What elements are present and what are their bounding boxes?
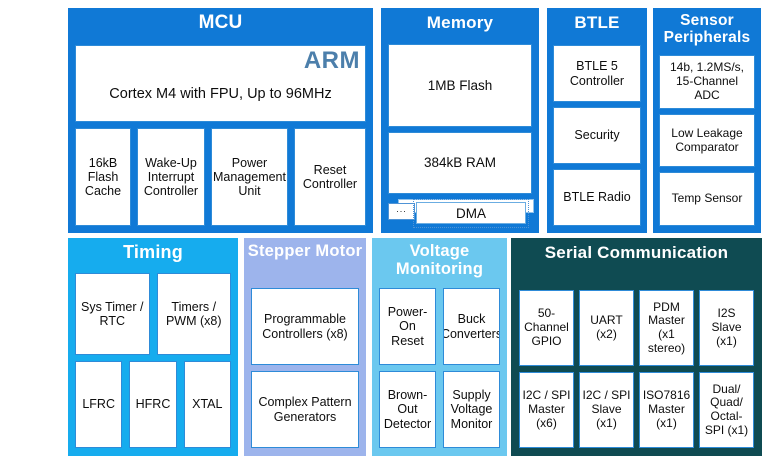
cell-label: 1MB Flash bbox=[426, 78, 495, 93]
group-btle[interactable]: BTLE BTLE 5 Controller Security BTLE Rad… bbox=[547, 8, 647, 233]
mcu-core-label: Cortex M4 with FPU, Up to 96MHz bbox=[109, 86, 331, 121]
cell-label: 14b, 1.2MS/s, 15-Channel ADC bbox=[660, 61, 754, 102]
cell-label: Temp Sensor bbox=[670, 192, 745, 206]
cell-label: Timers / PWM (x8) bbox=[158, 300, 231, 329]
cell-label: I2C / SPI Slave (x1) bbox=[580, 389, 633, 430]
cell-label: 16kB Flash Cache bbox=[76, 156, 130, 199]
block-diagram-canvas: MCU ARM Cortex M4 with FPU, Up to 96MHz … bbox=[0, 0, 769, 464]
cell-label: Dual/ Quad/ Octal-SPI (x1) bbox=[700, 383, 753, 438]
cell-label: Complex Pattern Generators bbox=[252, 395, 358, 424]
cell-label: Sys Timer / RTC bbox=[76, 300, 149, 329]
group-stepper-motor-body: Programmable Controllers (x8) Complex Pa… bbox=[244, 287, 366, 456]
cell-label: Low Leakage Comparator bbox=[660, 127, 754, 154]
group-voltage-monitoring[interactable]: Voltage Monitoring Power-On Reset Buck C… bbox=[372, 238, 507, 456]
cell-label: 50-Channel GPIO bbox=[520, 307, 573, 348]
cell-label: Programmable Controllers (x8) bbox=[252, 312, 358, 341]
mcu-peripheral-row: 16kB Flash Cache Wake-Up Interrupt Contr… bbox=[75, 128, 366, 226]
cell-label: XTAL bbox=[190, 397, 224, 411]
memory-cell-ram[interactable]: 384kB RAM bbox=[388, 132, 532, 194]
timing-cell-lfrc[interactable]: LFRC bbox=[75, 361, 122, 448]
cell-label: Supply Voltage Monitor bbox=[444, 388, 499, 431]
memory-cell-flash[interactable]: 1MB Flash bbox=[388, 44, 532, 127]
btle-cell-controller[interactable]: BTLE 5 Controller bbox=[553, 45, 641, 102]
group-stepper-motor-title: Stepper Motor bbox=[244, 238, 366, 287]
cell-label: LFRC bbox=[80, 397, 117, 411]
serial-cell-uart[interactable]: UART (x2) bbox=[579, 290, 634, 366]
group-sensor-peripherals[interactable]: Sensor Peripherals 14b, 1.2MS/s, 15-Chan… bbox=[653, 8, 761, 233]
group-voltage-monitoring-title: Voltage Monitoring bbox=[372, 238, 507, 287]
group-btle-body: BTLE 5 Controller Security BTLE Radio bbox=[547, 41, 647, 233]
cell-label: Security bbox=[572, 128, 621, 142]
timing-cell-sys-timer-rtc[interactable]: Sys Timer / RTC bbox=[75, 273, 150, 355]
group-memory[interactable]: Memory 1MB Flash 384kB RAM ... DMA bbox=[381, 8, 539, 233]
group-serial-communication-body: 50-Channel GPIO UART (x2) PDM Master (x1… bbox=[511, 289, 762, 456]
group-sensor-peripherals-title: Sensor Peripherals bbox=[653, 8, 761, 53]
memory-dma-row: ... DMA bbox=[388, 199, 532, 227]
timing-cell-timers-pwm[interactable]: Timers / PWM (x8) bbox=[157, 273, 232, 355]
timing-cell-hfrc[interactable]: HFRC bbox=[129, 361, 176, 448]
mcu-cell-wake-up-interrupt-controller[interactable]: Wake-Up Interrupt Controller bbox=[137, 128, 205, 226]
cell-label: BTLE 5 Controller bbox=[554, 59, 640, 88]
serial-cell-iso7816-master[interactable]: ISO7816 Master (x1) bbox=[639, 372, 694, 448]
cell-label: I2S Slave (x1) bbox=[700, 307, 753, 348]
stepper-cell-programmable-controllers[interactable]: Programmable Controllers (x8) bbox=[251, 288, 359, 365]
timing-row-1: Sys Timer / RTC Timers / PWM (x8) bbox=[75, 273, 231, 355]
serial-row-2: I2C / SPI Master (x6) I2C / SPI Slave (x… bbox=[519, 372, 754, 448]
serial-row-1: 50-Channel GPIO UART (x2) PDM Master (x1… bbox=[519, 290, 754, 366]
group-timing-title: Timing bbox=[68, 238, 238, 270]
mcu-cell-power-management-unit[interactable]: Power Management Unit bbox=[211, 128, 288, 226]
arm-logo-text: ARM bbox=[304, 47, 360, 75]
serial-cell-i2c-spi-slave[interactable]: I2C / SPI Slave (x1) bbox=[579, 372, 634, 448]
cell-label: Power Management Unit bbox=[211, 156, 288, 199]
group-mcu[interactable]: MCU ARM Cortex M4 with FPU, Up to 96MHz … bbox=[68, 8, 373, 233]
memory-cell-dma[interactable]: DMA bbox=[416, 202, 526, 224]
cell-label: BTLE Radio bbox=[561, 190, 632, 204]
group-serial-communication-title: Serial Communication bbox=[511, 238, 762, 289]
cell-label: Buck Converters bbox=[443, 312, 500, 341]
mcu-core-block[interactable]: ARM Cortex M4 with FPU, Up to 96MHz bbox=[75, 45, 366, 122]
cell-label: ISO7816 Master (x1) bbox=[640, 389, 693, 430]
serial-cell-dual-quad-octal-spi[interactable]: Dual/ Quad/ Octal-SPI (x1) bbox=[699, 372, 754, 448]
group-btle-title: BTLE bbox=[547, 8, 647, 41]
stepper-cell-complex-pattern-generators[interactable]: Complex Pattern Generators bbox=[251, 371, 359, 448]
voltage-cell-brown-out-detector[interactable]: Brown-Out Detector bbox=[379, 371, 436, 448]
cell-label: 384kB RAM bbox=[422, 155, 498, 170]
cell-label: Reset Controller bbox=[295, 163, 365, 192]
mcu-cell-flash-cache[interactable]: 16kB Flash Cache bbox=[75, 128, 131, 226]
group-voltage-monitoring-body: Power-On Reset Buck Converters Brown-Out… bbox=[372, 287, 507, 456]
group-timing-body: Sys Timer / RTC Timers / PWM (x8) LFRC H… bbox=[68, 270, 238, 456]
cell-label: I2C / SPI Master (x6) bbox=[520, 389, 573, 430]
group-memory-title: Memory bbox=[381, 8, 539, 41]
voltage-row-2: Brown-Out Detector Supply Voltage Monito… bbox=[379, 371, 500, 448]
sensor-cell-low-leakage-comparator[interactable]: Low Leakage Comparator bbox=[659, 114, 755, 168]
serial-cell-i2s-slave[interactable]: I2S Slave (x1) bbox=[699, 290, 754, 366]
voltage-cell-supply-voltage-monitor[interactable]: Supply Voltage Monitor bbox=[443, 371, 500, 448]
group-serial-communication[interactable]: Serial Communication 50-Channel GPIO UAR… bbox=[511, 238, 762, 456]
group-mcu-body: ARM Cortex M4 with FPU, Up to 96MHz 16kB… bbox=[68, 41, 373, 233]
timing-cell-xtal[interactable]: XTAL bbox=[184, 361, 231, 448]
cell-label: Brown-Out Detector bbox=[380, 388, 435, 431]
mcu-cell-reset-controller[interactable]: Reset Controller bbox=[294, 128, 366, 226]
group-memory-body: 1MB Flash 384kB RAM ... DMA bbox=[381, 41, 539, 233]
cell-label: Power-On Reset bbox=[380, 305, 435, 348]
serial-cell-pdm-master[interactable]: PDM Master (x1 stereo) bbox=[639, 290, 694, 366]
group-mcu-title: MCU bbox=[68, 8, 373, 41]
cell-label: DMA bbox=[454, 206, 488, 221]
group-stepper-motor[interactable]: Stepper Motor Programmable Controllers (… bbox=[244, 238, 366, 456]
sensor-cell-temp-sensor[interactable]: Temp Sensor bbox=[659, 172, 755, 226]
group-timing[interactable]: Timing Sys Timer / RTC Timers / PWM (x8)… bbox=[68, 238, 238, 456]
cell-label: Wake-Up Interrupt Controller bbox=[138, 156, 204, 199]
btle-cell-security[interactable]: Security bbox=[553, 107, 641, 164]
voltage-row-1: Power-On Reset Buck Converters bbox=[379, 288, 500, 365]
cell-label: HFRC bbox=[134, 397, 173, 411]
btle-cell-radio[interactable]: BTLE Radio bbox=[553, 169, 641, 226]
cell-label: PDM Master (x1 stereo) bbox=[640, 301, 693, 356]
serial-cell-gpio[interactable]: 50-Channel GPIO bbox=[519, 290, 574, 366]
voltage-cell-power-on-reset[interactable]: Power-On Reset bbox=[379, 288, 436, 365]
serial-cell-i2c-spi-master[interactable]: I2C / SPI Master (x6) bbox=[519, 372, 574, 448]
overflow-ellipsis-button[interactable]: ... bbox=[388, 203, 415, 220]
group-sensor-peripherals-body: 14b, 1.2MS/s, 15-Channel ADC Low Leakage… bbox=[653, 53, 761, 233]
timing-row-2: LFRC HFRC XTAL bbox=[75, 361, 231, 448]
cell-label: UART (x2) bbox=[580, 314, 633, 341]
sensor-cell-adc[interactable]: 14b, 1.2MS/s, 15-Channel ADC bbox=[659, 55, 755, 109]
voltage-cell-buck-converters[interactable]: Buck Converters bbox=[443, 288, 500, 365]
